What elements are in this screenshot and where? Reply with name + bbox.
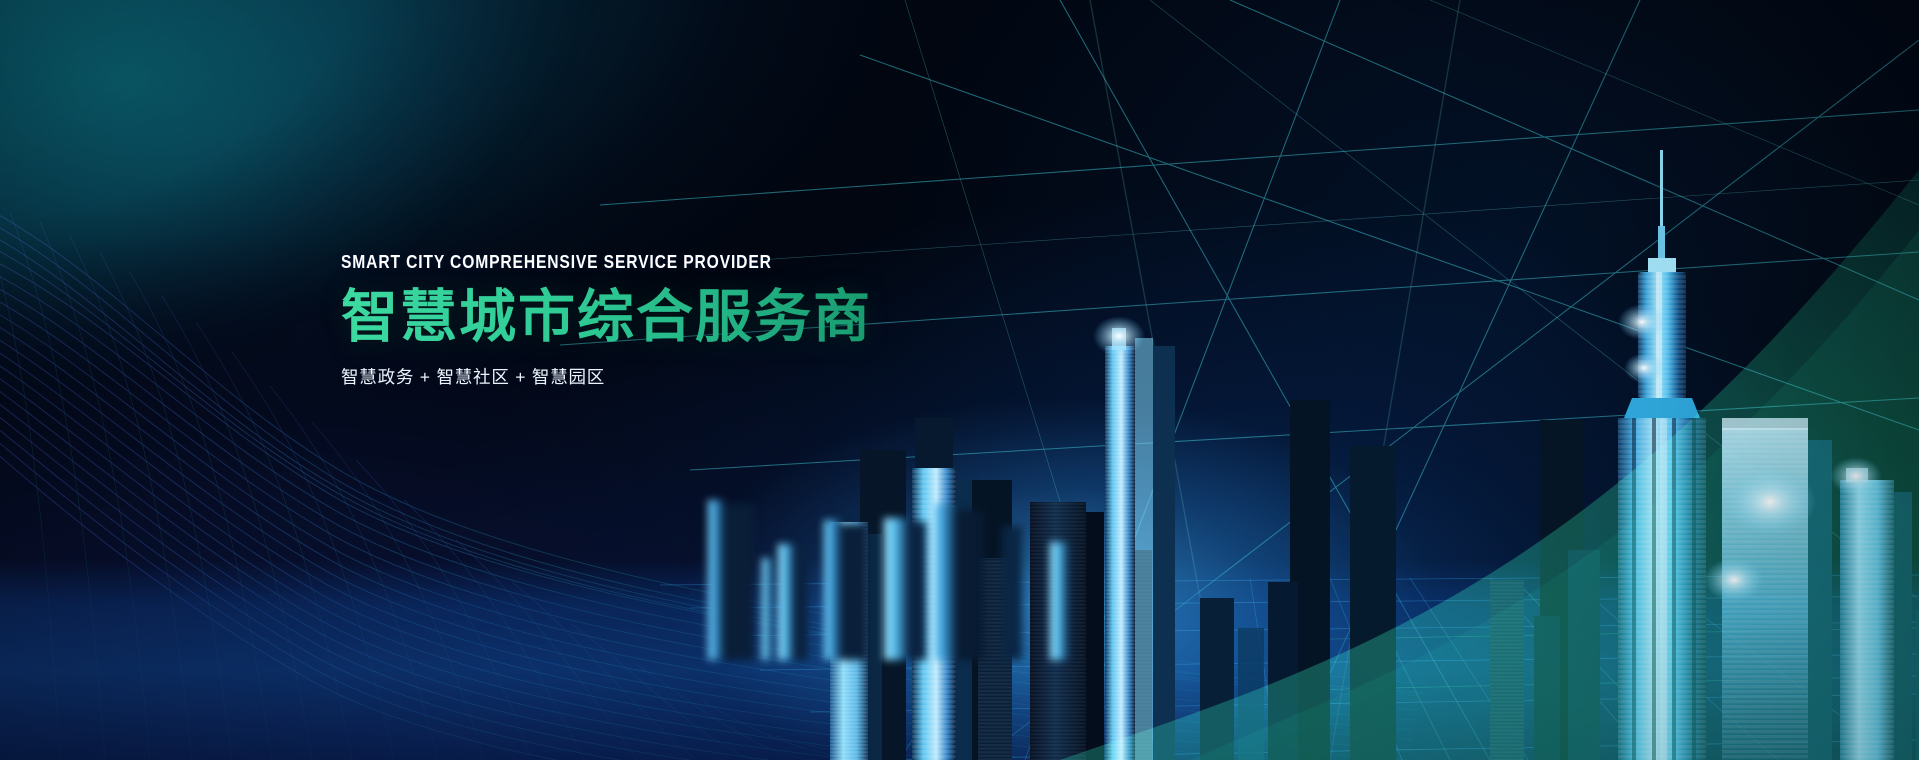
eyebrow-text: SMART CITY COMPREHENSIVE SERVICE PROVIDE…: [341, 252, 983, 272]
hero-copy-block: SMART CITY COMPREHENSIVE SERVICE PROVIDE…: [341, 252, 1101, 389]
subtitle-text: 智慧政务 + 智慧社区 + 智慧园区: [341, 364, 1101, 389]
page-title: 智慧城市综合服务商: [341, 284, 1101, 350]
smart-city-hero-banner: SMART CITY COMPREHENSIVE SERVICE PROVIDE…: [0, 0, 1919, 760]
